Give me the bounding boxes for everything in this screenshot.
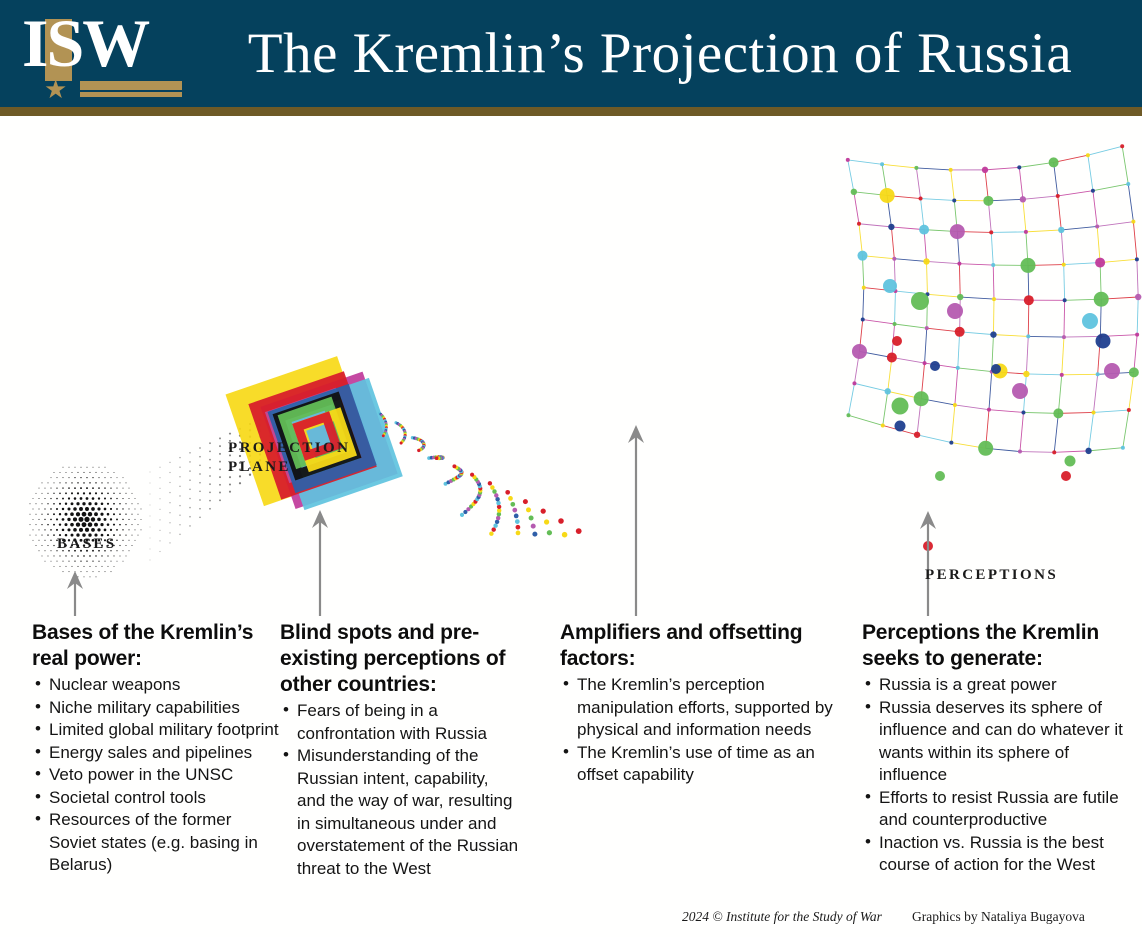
list-item: Nuclear weapons [32,674,282,697]
list-item: Niche military capabilities [32,697,282,720]
list-item: Russia deserves its sphere of influence … [862,697,1124,787]
column-heading: Blind spots and pre-existing perceptions… [280,620,520,698]
list-item: Russia is a great power [862,674,1124,697]
label-projection-plane: PROJECTION PLANE [228,439,358,477]
list-item: The Kremlin’s use of time as an offset c… [560,742,860,787]
list-item: Resources of the former Soviet states (e… [32,809,282,877]
column-list: Nuclear weaponsNiche military capabiliti… [32,674,282,877]
header-gold-rule [0,107,1142,116]
list-item: Veto power in the UNSC [32,764,282,787]
label-projection-plane-line2: PLANE [228,459,291,475]
footer: 2024 © Institute for the Study of War Gr… [0,903,1142,937]
label-perceptions: PERCEPTIONS [925,567,1058,584]
list-item: Efforts to resist Russia are futile and … [862,787,1124,832]
logo-bar-upper [80,81,182,90]
page-title: The Kremlin’s Projection of Russia [200,16,1120,92]
column-bases: Bases of the Kremlin’s real power: Nucle… [32,620,282,877]
column-heading: Perceptions the Kremlin seeks to generat… [862,620,1124,672]
projection-plane-squares [226,349,403,523]
column-list: Fears of being in a confrontation with R… [280,700,520,880]
copyright-text: 2024 © Institute for the Study of War [682,909,882,925]
star-icon: ★ [44,76,67,102]
header-banner: ISW ★ The Kremlin’s Projection of Russia [0,0,1142,107]
projection-ray-fan [378,412,582,538]
column-blind-spots: Blind spots and pre-existing perceptions… [280,620,520,880]
column-perceptions: Perceptions the Kremlin seeks to generat… [862,620,1124,877]
list-item: Misunderstanding of the Russian intent, … [280,745,520,880]
column-heading: Bases of the Kremlin’s real power: [32,620,282,672]
column-amplifiers: Amplifiers and offsetting factors: The K… [560,620,860,787]
pointer-arrows [67,425,936,616]
list-item: Energy sales and pipelines [32,742,282,765]
list-item: Inaction vs. Russia is the best course o… [862,832,1124,877]
isw-logo: ISW ★ [22,13,182,97]
graphics-credit-text: Graphics by Nataliya Bugayova [912,909,1085,925]
logo-wordmark: ISW [22,7,182,79]
column-heading: Amplifiers and offsetting factors: [560,620,860,672]
column-list: The Kremlin’s perception manipulation ef… [560,674,860,787]
content-columns: Bases of the Kremlin’s real power: Nucle… [0,620,1142,910]
logo-bar-lower [80,92,182,97]
list-item: The Kremlin’s perception manipulation ef… [560,674,860,742]
column-list: Russia is a great powerRussia deserves i… [862,674,1124,877]
perceptions-network-mesh [846,144,1142,551]
bases-halftone-circle [30,467,142,578]
label-projection-plane-line1: PROJECTION [228,440,350,456]
infographic-page: ISW ★ The Kremlin’s Projection of Russia [0,0,1142,937]
projection-diagram: BASES PROJECTION PLANE PERCEPTIONS [0,116,1142,616]
list-item: Fears of being in a confrontation with R… [280,700,520,745]
list-item: Societal control tools [32,787,282,810]
label-bases: BASES [57,536,117,553]
diagram-canvas [0,116,1142,616]
list-item: Limited global military footprint [32,719,282,742]
